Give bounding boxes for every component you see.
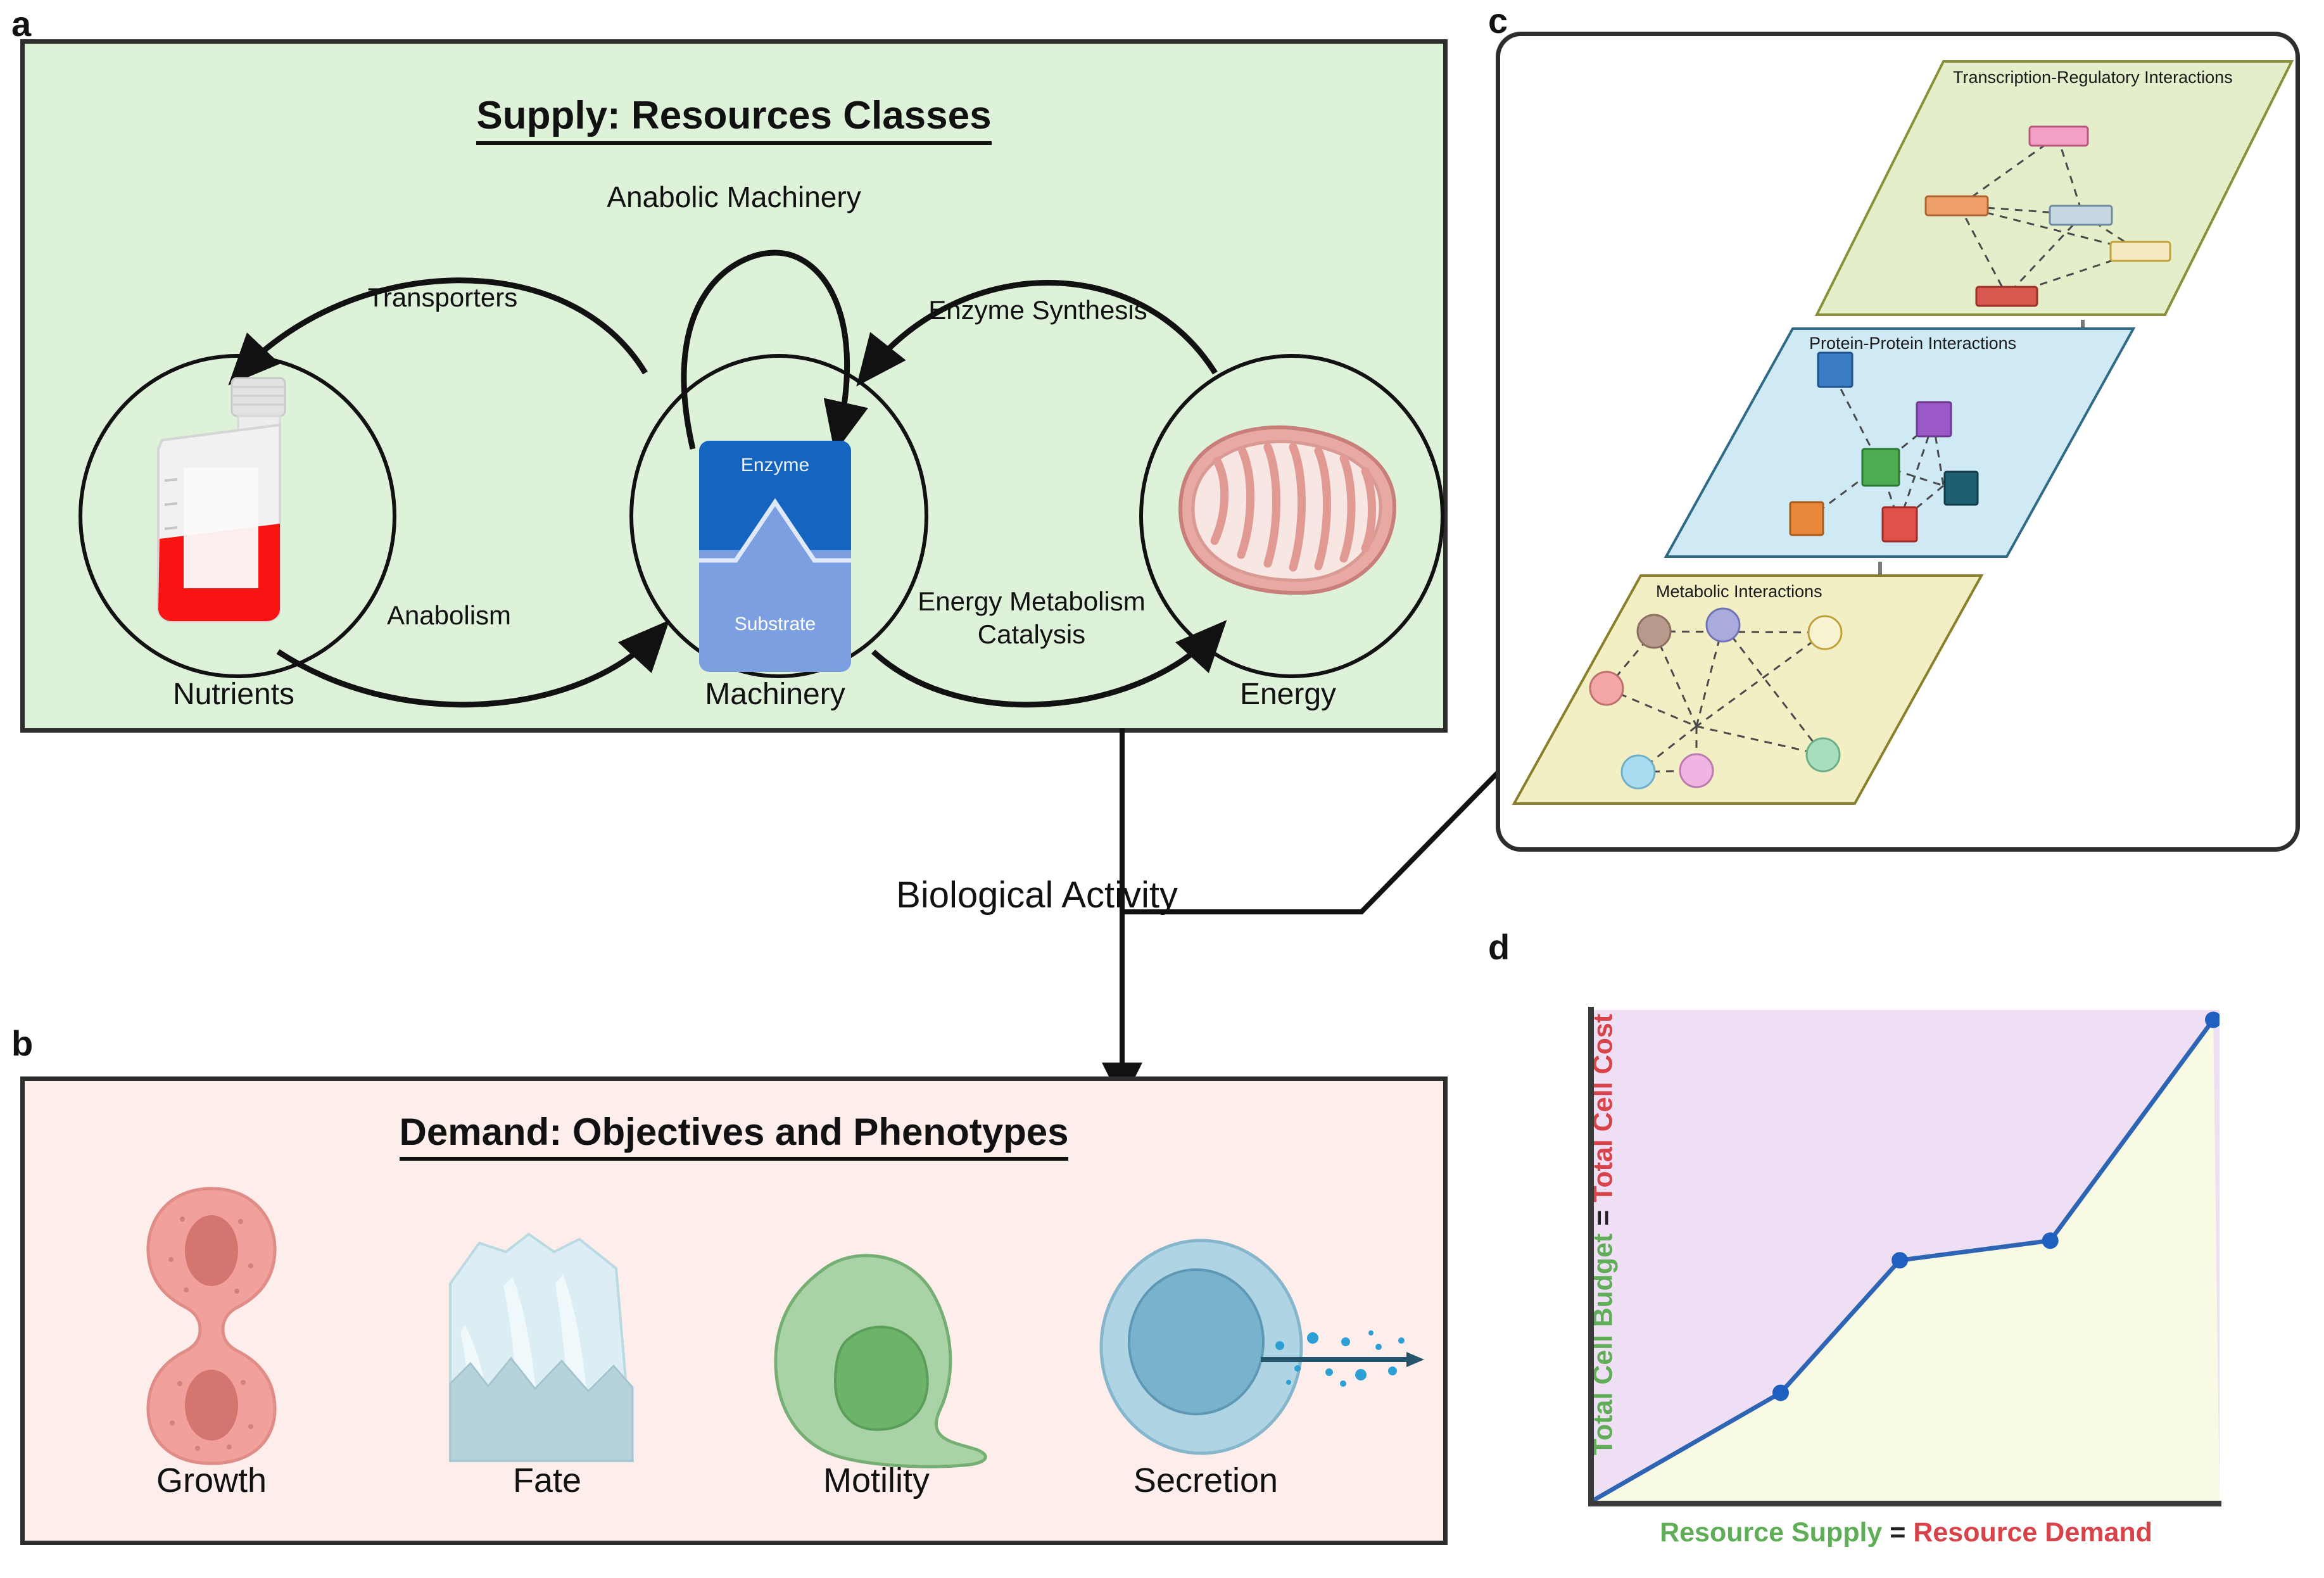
panel-letter-c: c bbox=[1488, 3, 1508, 39]
node-label-machinery: Machinery bbox=[629, 677, 921, 712]
chart-x-axis bbox=[1588, 1501, 2221, 1506]
edge-label-transporters: Transporters bbox=[316, 283, 569, 312]
edge-label-energy-metabolism-line2: Catalysis bbox=[854, 620, 1209, 648]
layer-label-metabolic: Metabolic Interactions bbox=[1656, 582, 1822, 602]
phenotype-label-growth: Growth bbox=[75, 1461, 348, 1500]
xlabel-equals: = bbox=[1882, 1517, 1913, 1548]
chart-y-axis bbox=[1588, 1007, 1594, 1506]
biological-activity-label: Biological Activity bbox=[823, 874, 1178, 916]
phenotype-label-secretion: Secretion bbox=[1070, 1461, 1342, 1500]
chart-data-point bbox=[1772, 1385, 1789, 1401]
dividing-cell-icon bbox=[117, 1182, 306, 1467]
panel-b-title-text: Demand: Objectives and Phenotypes bbox=[400, 1111, 1069, 1161]
chart-data-point bbox=[1891, 1252, 1908, 1268]
landscape-mountain-icon bbox=[405, 1208, 690, 1474]
media-bottle-icon bbox=[123, 373, 351, 639]
layer-label-transcription-regulatory: Transcription-Regulatory Interactions bbox=[1953, 68, 2233, 87]
panel-c-network-layers-box: Transcription-Regulatory Interactions Pr… bbox=[1496, 32, 2300, 852]
node-label-energy: Energy bbox=[1139, 677, 1437, 712]
enzyme-label: Enzyme bbox=[699, 455, 851, 476]
xlabel-part-supply: Resource Supply bbox=[1660, 1517, 1882, 1548]
enzyme-box: Enzyme bbox=[699, 441, 851, 560]
panel-b-demand-box: Demand: Objectives and Phenotypes Growth… bbox=[20, 1076, 1448, 1545]
substrate-label: Substrate bbox=[699, 614, 851, 635]
chart-series-svg bbox=[1593, 1010, 2220, 1501]
panel-letter-b: b bbox=[11, 1026, 33, 1061]
phenotype-label-fate: Fate bbox=[411, 1461, 683, 1500]
edge-label-enzyme-synthesis: Enzyme Synthesis bbox=[873, 296, 1203, 324]
migrating-cell-icon bbox=[747, 1239, 1038, 1480]
secreting-cell-icon bbox=[1095, 1233, 1449, 1474]
panel-letter-d: d bbox=[1488, 930, 1510, 965]
network-layers-svg bbox=[1500, 36, 2296, 847]
xlabel-part-demand: Resource Demand bbox=[1913, 1517, 2152, 1548]
chart-xlabel: Resource Supply = Resource Demand bbox=[1589, 1517, 2223, 1548]
panel-a-supply-box: Supply: Resources Classes Anabolic Machi… bbox=[20, 39, 1448, 733]
chart-data-point bbox=[2042, 1232, 2059, 1249]
panel-b-title: Demand: Objectives and Phenotypes bbox=[25, 1110, 1443, 1154]
phenotype-label-motility: Motility bbox=[740, 1461, 1013, 1500]
panel-d-chart: Total Cell Budget = Total Cell Cost bbox=[1593, 1010, 2220, 1501]
layer-label-protein-protein: Protein-Protein Interactions bbox=[1809, 334, 2016, 353]
substrate-box: Substrate bbox=[699, 550, 851, 672]
mitochondrion-icon bbox=[1168, 414, 1408, 604]
node-label-nutrients: Nutrients bbox=[79, 677, 389, 712]
panel-letter-a: a bbox=[11, 6, 31, 42]
